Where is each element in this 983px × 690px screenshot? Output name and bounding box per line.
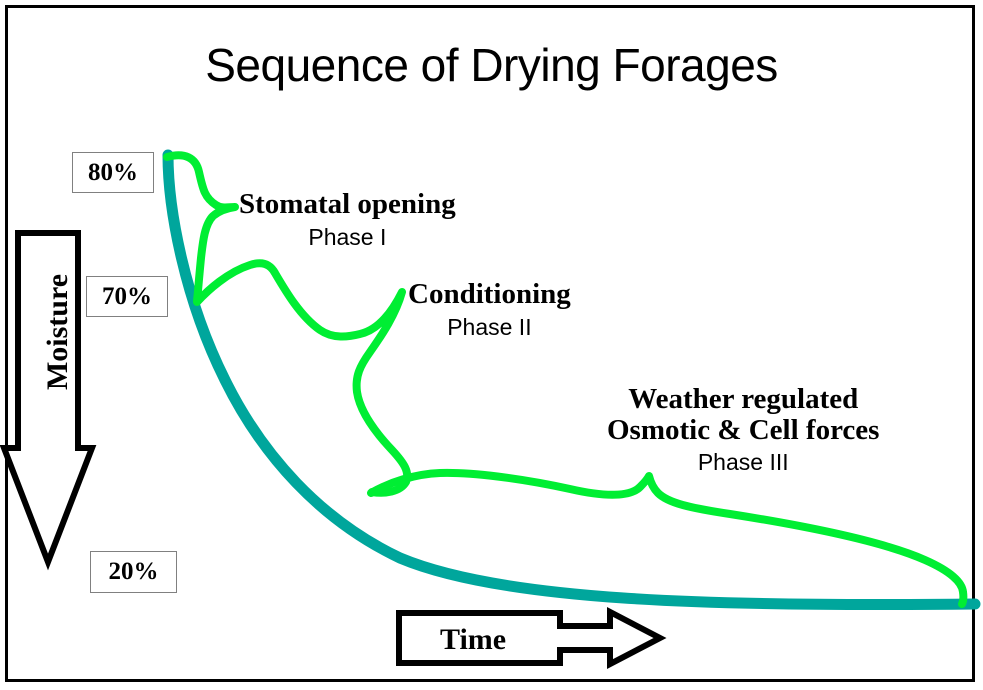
moisture-label-80: 80% [72, 152, 154, 193]
moisture-label-20: 20% [90, 551, 177, 593]
phase-2-subtitle: Phase II [408, 314, 571, 340]
phase-1-annotation: Stomatal opening Phase I [239, 189, 456, 250]
phase-3-subtitle: Phase III [607, 449, 879, 475]
phase-3-title-line1: Weather regulated [607, 384, 879, 415]
phase-3-annotation: Weather regulated Osmotic & Cell forces … [607, 384, 879, 476]
phase-2-annotation: Conditioning Phase II [408, 279, 571, 340]
time-axis-label: Time [440, 623, 506, 657]
bracket-phase-3 [371, 473, 963, 604]
phase-1-subtitle: Phase I [239, 224, 456, 250]
diagram-page: Sequence of Drying Forages Moisture Time… [0, 0, 983, 690]
time-axis-arrow [399, 612, 660, 664]
phase-3-title-line2: Osmotic & Cell forces [607, 415, 879, 446]
moisture-label-70: 70% [86, 276, 168, 317]
moisture-axis-label: Moisture [41, 252, 75, 412]
phase-1-title: Stomatal opening [239, 189, 456, 220]
phase-2-title: Conditioning [408, 279, 571, 310]
